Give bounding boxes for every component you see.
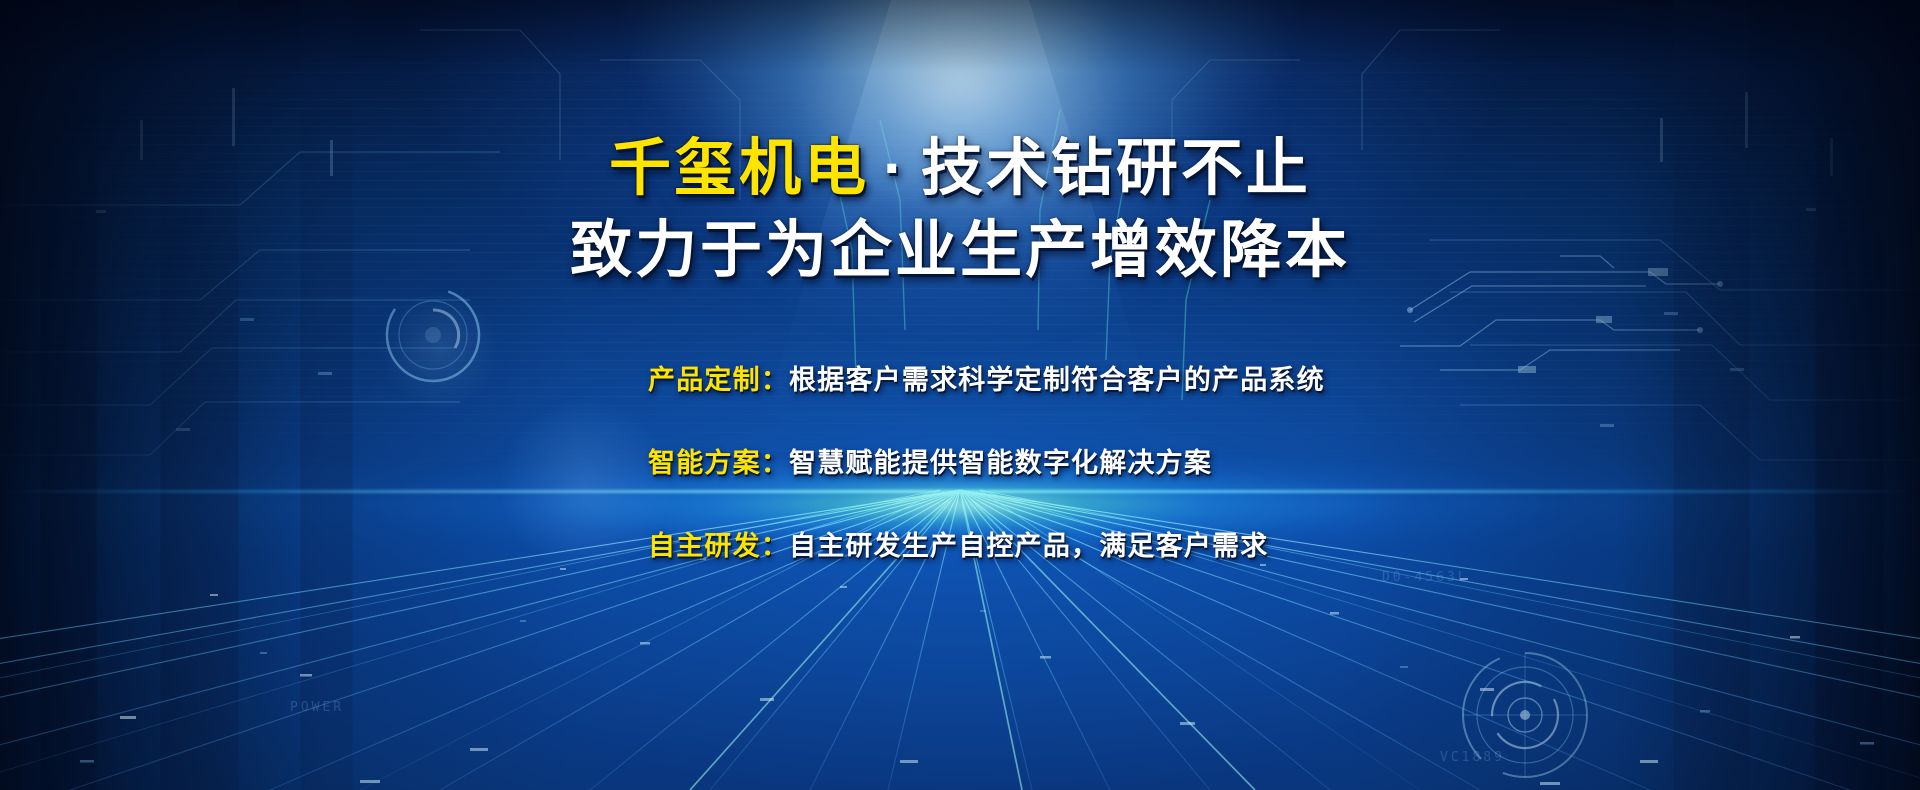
bullet-item-product-custom: 产品定制：根据客户需求科学定制符合客户的产品系统 [648,358,1448,397]
brand-name: 千玺机电 [609,134,869,203]
banner-content: 千玺机电·技术钻研不止 致力于为企业生产增效降本 产品定制：根据客户需求科学定制… [0,0,1920,790]
bullet-text: 智慧赋能提供智能数字化解决方案 [789,448,1212,478]
bullet-separator: ： [761,531,789,561]
bullet-item-smart-solution: 智能方案：智慧赋能提供智能数字化解决方案 [648,441,1448,480]
headline-line-1: 千玺机电·技术钻研不止 [0,138,1920,200]
bullet-text: 根据客户需求科学定制符合客户的产品系统 [789,365,1325,395]
headline-line-2: 致力于为企业生产增效降本 [0,220,1920,282]
bullet-key: 产品定制 [648,365,761,395]
bullet-key: 智能方案 [648,448,761,478]
headline-line-1-rest: 技术钻研不止 [921,134,1311,203]
bullet-separator: ： [761,448,789,478]
bullet-list: 产品定制：根据客户需求科学定制符合客户的产品系统 智能方案：智慧赋能提供智能数字… [648,358,1448,563]
bullet-key: 自主研发 [648,531,761,561]
bullet-text: 自主研发生产自控产品，满足客户需求 [789,531,1268,561]
hero-banner: POWER D0-4563L VC1889 千玺机电·技术钻研不止 致力于为企业… [0,0,1920,790]
headline-block: 千玺机电·技术钻研不止 致力于为企业生产增效降本 [0,138,1920,282]
headline-separator-dot: · [869,134,921,203]
bullet-item-self-rnd: 自主研发：自主研发生产自控产品，满足客户需求 [648,524,1448,563]
bullet-separator: ： [761,365,789,395]
